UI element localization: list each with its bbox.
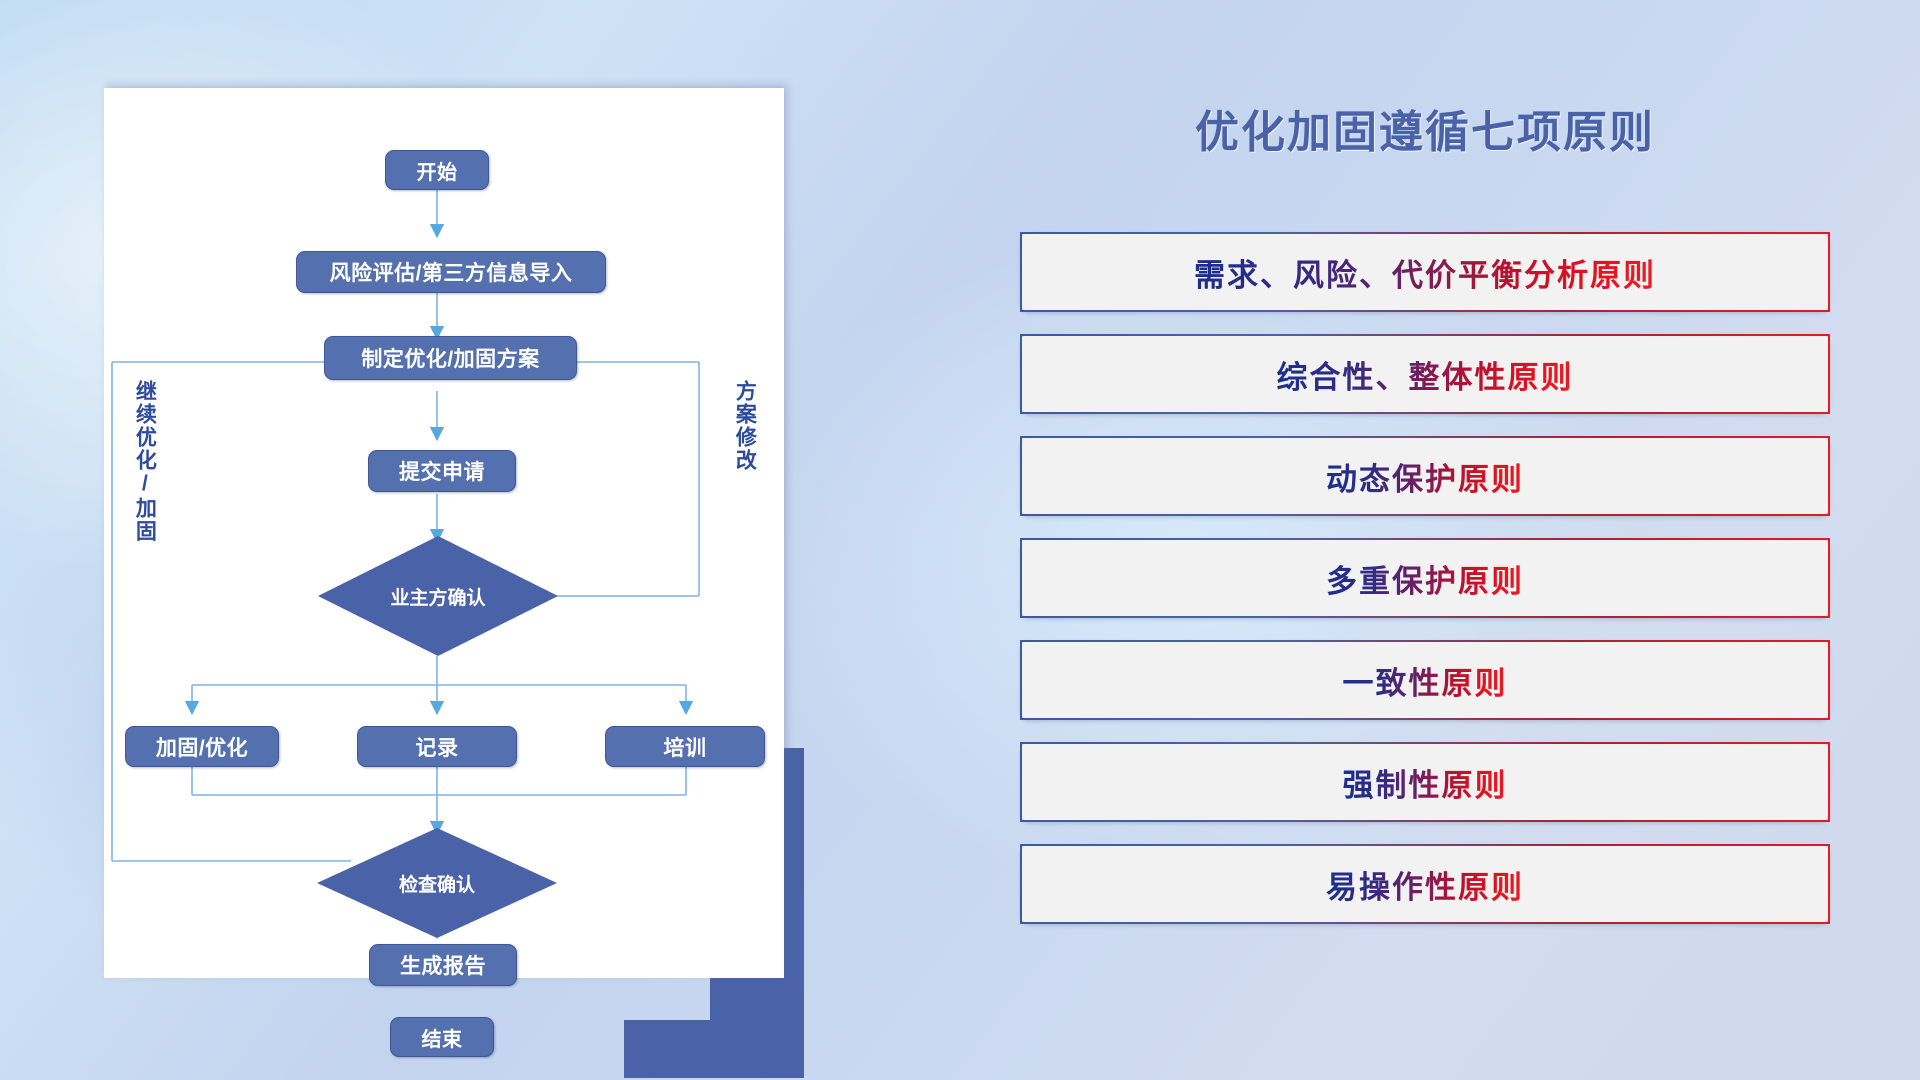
flow-node-label: 生成报告 — [400, 950, 486, 980]
principles-list: 需求、风险、代价平衡分析原则 综合性、整体性原则 动态保护原则 多重保护原则 一… — [1020, 232, 1830, 946]
flow-node-plan[interactable]: 制定优化/加固方案 — [324, 336, 577, 380]
principle-label: 强制性原则 — [1343, 760, 1508, 805]
flow-node-end[interactable]: 结束 — [390, 1017, 494, 1057]
flow-node-label: 检查确认 — [399, 870, 475, 897]
flow-node-label: 开始 — [417, 156, 458, 185]
flow-decision-check-confirm[interactable]: 检查确认 — [317, 828, 557, 938]
flow-node-label: 结束 — [422, 1023, 463, 1052]
flow-decision-owner-confirm[interactable]: 业主方确认 — [318, 536, 558, 656]
flow-node-label: 提交申请 — [399, 456, 485, 486]
flow-node-label: 制定优化/加固方案 — [361, 343, 539, 373]
principle-card[interactable]: 易操作性原则 — [1020, 844, 1830, 924]
principle-card[interactable]: 强制性原则 — [1020, 742, 1830, 822]
flowchart-panel: 开始 风险评估/第三方信息导入 制定优化/加固方案 提交申请 业主方确认 加固/… — [104, 88, 784, 978]
principle-card[interactable]: 一致性原则 — [1020, 640, 1830, 720]
principle-label: 易操作性原则 — [1326, 862, 1524, 907]
flow-node-risk-assessment[interactable]: 风险评估/第三方信息导入 — [296, 251, 606, 293]
principle-label: 综合性、整体性原则 — [1277, 352, 1574, 397]
flow-node-generate-report[interactable]: 生成报告 — [369, 944, 517, 986]
principle-label: 多重保护原则 — [1326, 556, 1524, 601]
flow-node-label: 记录 — [416, 732, 459, 762]
principle-label: 动态保护原则 — [1326, 454, 1524, 499]
flow-node-record[interactable]: 记录 — [357, 726, 517, 767]
principles-panel: 优化加固遵循七项原则 需求、风险、代价平衡分析原则 综合性、整体性原则 动态保护… — [1020, 96, 1830, 1016]
flow-node-reinforce-optimize[interactable]: 加固/优化 — [125, 726, 279, 767]
principle-label: 需求、风险、代价平衡分析原则 — [1194, 250, 1656, 295]
principle-card[interactable]: 需求、风险、代价平衡分析原则 — [1020, 232, 1830, 312]
principle-card[interactable]: 综合性、整体性原则 — [1020, 334, 1830, 414]
flow-edge-label-right-loop: 方案修改 — [734, 380, 755, 472]
principle-label: 一致性原则 — [1343, 658, 1508, 703]
principle-card[interactable]: 动态保护原则 — [1020, 436, 1830, 516]
flow-node-submit-application[interactable]: 提交申请 — [368, 450, 516, 492]
flow-node-label: 业主方确认 — [390, 583, 485, 610]
flowchart-card: 开始 风险评估/第三方信息导入 制定优化/加固方案 提交申请 业主方确认 加固/… — [104, 88, 784, 978]
principles-title: 优化加固遵循七项原则 — [1020, 96, 1830, 160]
flow-node-label: 加固/优化 — [156, 732, 248, 762]
flow-node-label: 风险评估/第三方信息导入 — [330, 257, 573, 287]
flow-node-training[interactable]: 培训 — [605, 726, 765, 767]
flow-edge-label-left-loop: 继续优化/加固 — [134, 380, 155, 543]
flow-node-start[interactable]: 开始 — [385, 150, 489, 190]
flow-node-label: 培训 — [664, 732, 707, 762]
principle-card[interactable]: 多重保护原则 — [1020, 538, 1830, 618]
